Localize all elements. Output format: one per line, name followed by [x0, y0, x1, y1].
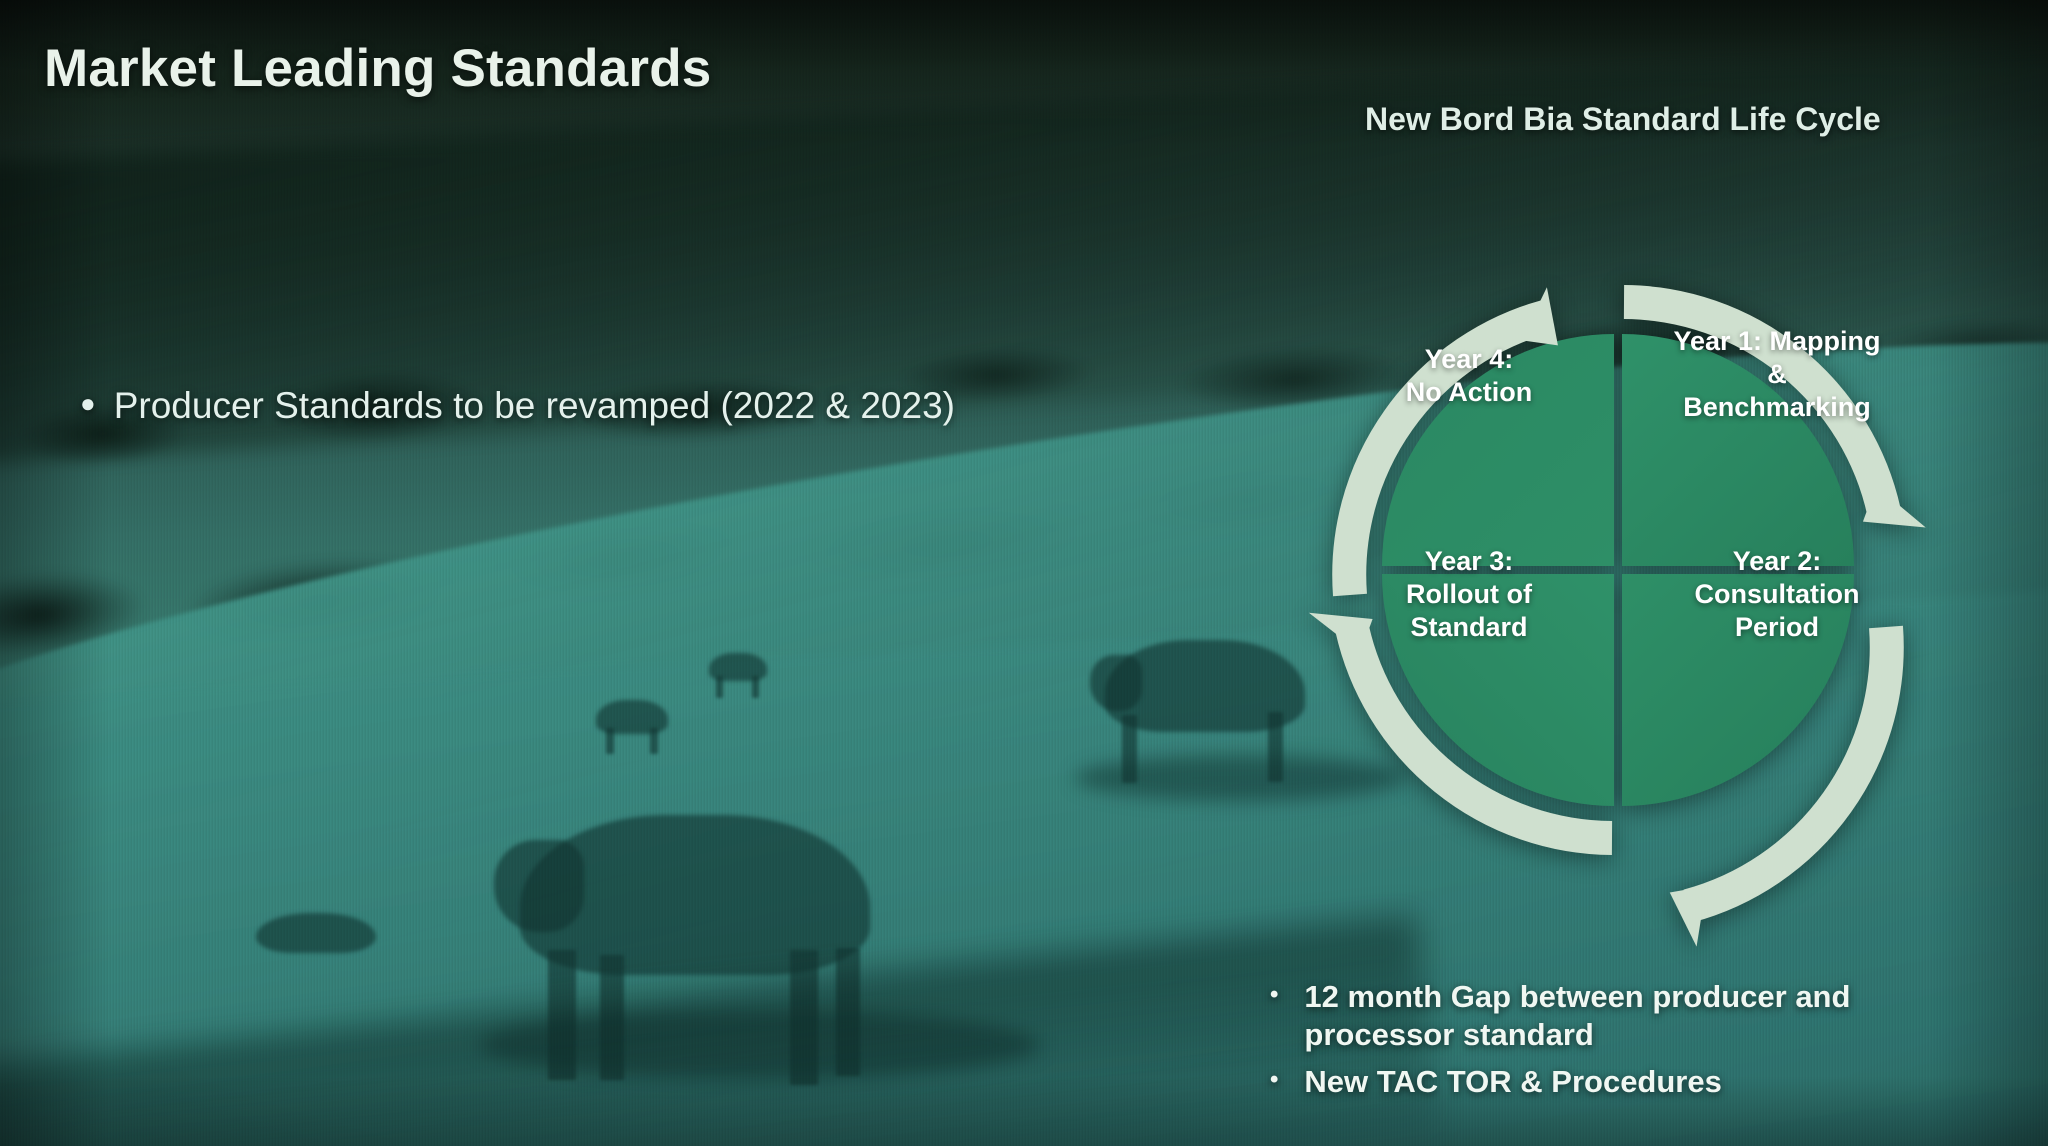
cycle-diagram: Year 4: No Action Year 1: Mapping & Benc…: [1232, 175, 2004, 965]
wedge-year2[interactable]: [1622, 574, 1854, 806]
cow-leg: [752, 676, 759, 698]
left-bullet-item: ● Producer Standards to be revamped (202…: [80, 385, 955, 427]
cow-leg: [716, 676, 723, 698]
cycle-quadrant-wedges: [1382, 334, 1854, 806]
cow-leg: [1122, 715, 1137, 783]
arrow-head-right-icon: [1863, 486, 1933, 543]
cow-head: [1090, 655, 1142, 711]
bullet-dot-icon: •: [1270, 1063, 1278, 1101]
presentation-slide: Market Leading Standards ● Producer Stan…: [0, 0, 2048, 1146]
wedge-year4[interactable]: [1382, 334, 1614, 566]
cycle-note-text: New TAC TOR & Procedures: [1304, 1063, 1990, 1101]
list-item: • 12 month Gap between producer and proc…: [1270, 978, 1990, 1054]
cycle-diagram-heading: New Bord Bia Standard Life Cycle: [1365, 101, 1881, 138]
arrow-head-left-icon: [1302, 598, 1373, 653]
cow-resting: [256, 913, 376, 953]
list-item: • New TAC TOR & Procedures: [1270, 1063, 1990, 1101]
bullet-dot-icon: ●: [80, 390, 96, 416]
left-bullet-text: Producer Standards to be revamped (2022 …: [114, 385, 955, 427]
cow-leg: [606, 728, 614, 754]
page-title: Market Leading Standards: [44, 38, 711, 99]
cycle-notes-list: • 12 month Gap between producer and proc…: [1270, 978, 1990, 1109]
cow-head: [494, 840, 584, 932]
cow-leg: [650, 728, 658, 754]
cycle-note-text: 12 month Gap between producer and proces…: [1304, 978, 1990, 1054]
cycle-diagram-svg: [1232, 175, 2004, 965]
bullet-dot-icon: •: [1270, 978, 1278, 1054]
